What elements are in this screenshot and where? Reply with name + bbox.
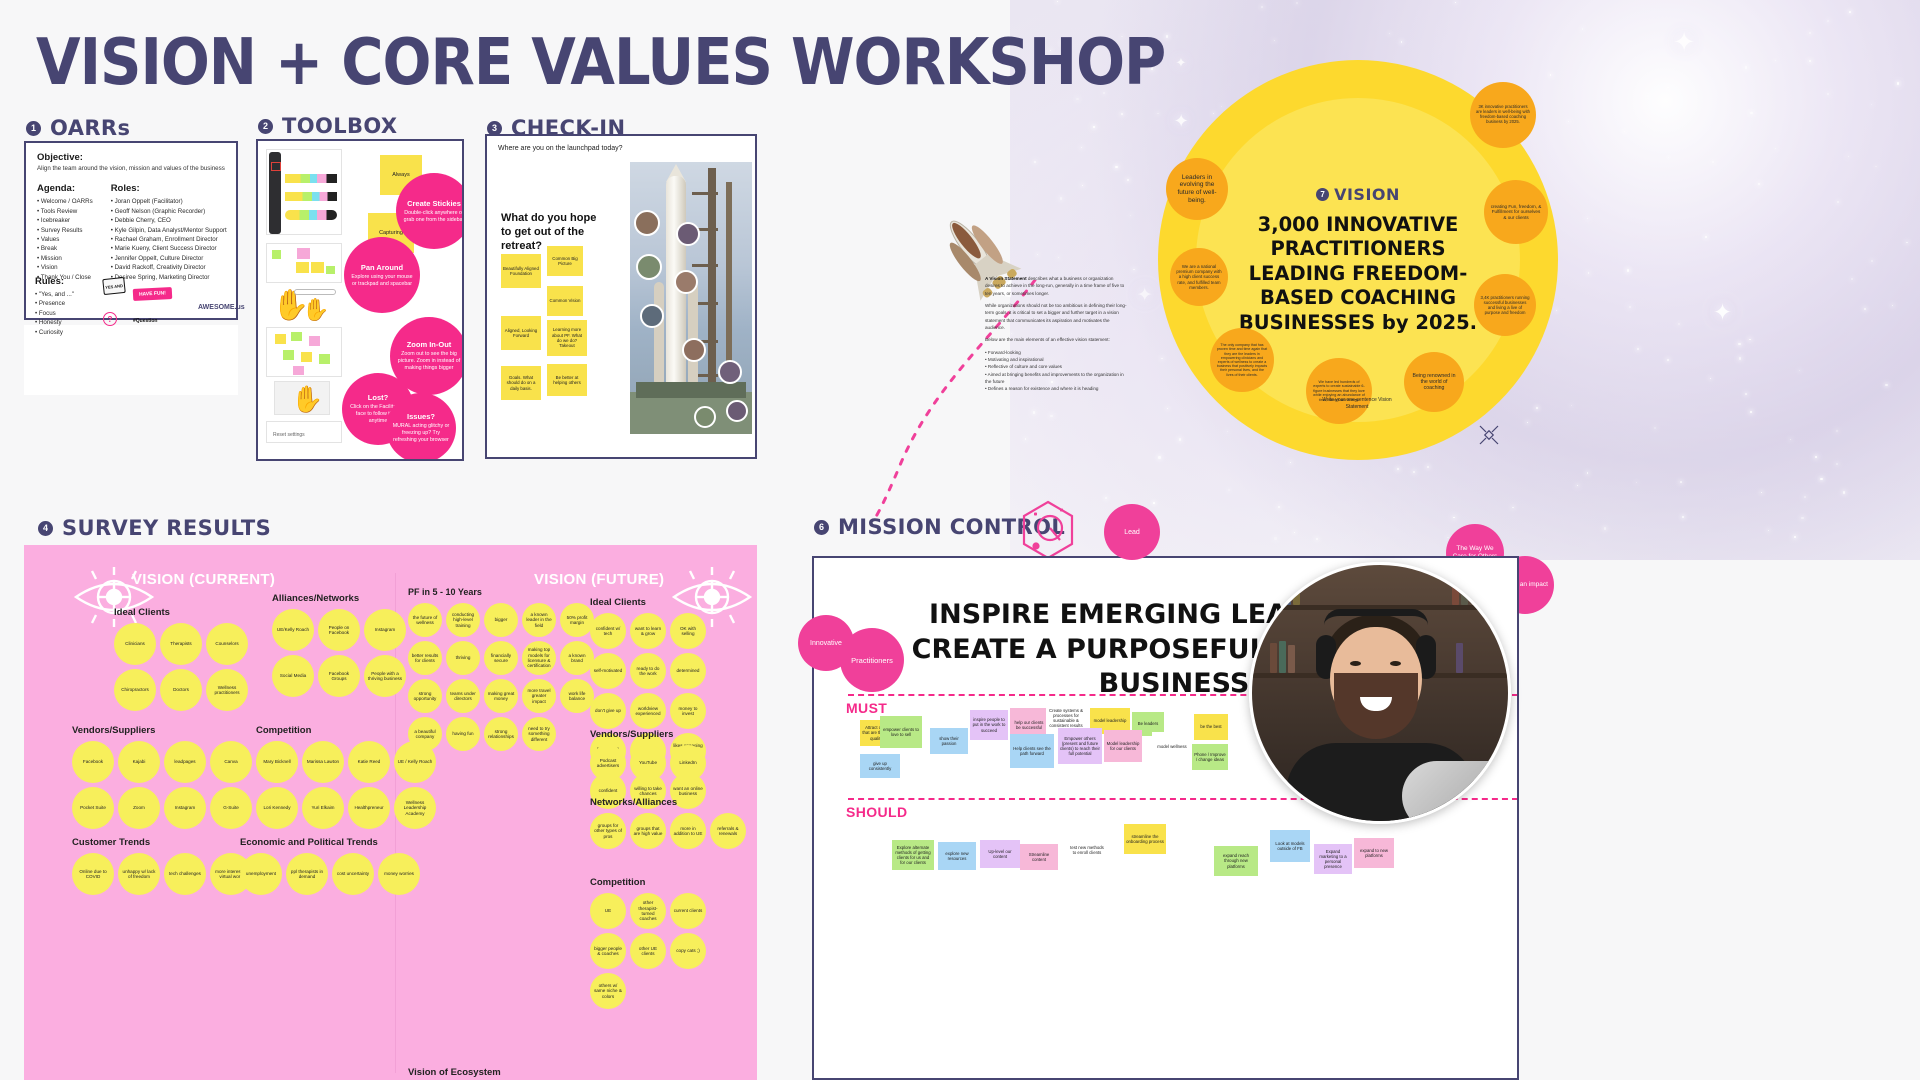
role-item: • David Rackoff, Creativity Director [111,263,227,272]
survey-middle-bubble[interactable]: a known brand [560,641,594,675]
star [1081,147,1082,148]
star [1864,308,1866,310]
star [1587,218,1588,219]
star [1799,370,1801,372]
hash-question-label: #Question [133,318,172,324]
agenda-item: • Welcome / OARRs [37,197,93,206]
section-title-oarrs: OARRs [50,116,130,140]
survey-bubble[interactable]: Marissa Lawton [302,741,344,783]
star [1221,106,1222,107]
star [1127,179,1129,181]
mission-should-note[interactable]: expand to new platforms [1354,838,1394,868]
star [1678,323,1680,325]
toolbox-bubble-pan-around[interactable]: Pan Around Explore using your mouse or t… [344,237,420,313]
star [1213,113,1214,114]
vision-copy-p2: While organizations should not be too am… [985,302,1129,331]
survey-bubble[interactable]: Instagram [364,609,406,651]
agenda-item: • Vision [37,263,93,272]
bubble-title: Issues? [407,412,435,421]
star [1294,532,1295,533]
rocket-launchpad-photo [630,162,752,434]
vision-orbit-note-2[interactable]: The only company that has proven time an… [1210,328,1274,392]
toolbox-screenshot-settings: Reset settings [266,421,342,443]
survey-group-label: Economic and Political Trends [240,837,378,848]
section-title-toolbox: TOOLBOX [282,114,398,138]
star [1758,183,1760,185]
section-header-vision: 7 VISION [1316,185,1400,204]
checkin-sticky[interactable]: Common Big Picture [547,246,583,276]
survey-bubble[interactable]: cost uncertainty [332,853,374,895]
star [1057,1,1058,2]
star [1179,438,1181,440]
bubble-text: Double-click anywhere or grab one from t… [401,210,464,224]
survey-bubble[interactable]: Lori Kennedy [256,787,298,829]
star [1809,60,1811,62]
survey-middle-bubble[interactable]: better results for clients [408,641,442,675]
star [1710,378,1711,379]
mission-should-note[interactable]: expand reach through new platforms [1214,846,1258,876]
survey-bubble[interactable]: Social Media [272,655,314,697]
survey-col-title-future: VISION (FUTURE) [534,571,664,588]
survey-bubble[interactable]: UE [590,893,626,929]
toolbox-screenshot-stickies [266,149,342,235]
mission-must-note[interactable]: inspire people to put in the work to suc… [970,710,1008,740]
star [1133,269,1135,271]
agenda-item: • Icebreaker [37,216,93,225]
checkin-panel: Where are you on the launchpad today? Wh… [485,134,757,459]
role-item: • Debbie Cherry, CEO [111,216,227,225]
star [1413,471,1415,473]
star [1512,507,1514,509]
star [1290,462,1291,463]
vision-orbit-note-6[interactable]: 3,4K practitioners running successful bu… [1474,274,1536,336]
checkin-prompt: Where are you on the launchpad today? [498,145,744,152]
survey-bubble[interactable]: Mary Bicknell [256,741,298,783]
star [1587,472,1588,473]
survey-middle-bubble[interactable]: a beautiful company [408,717,442,751]
rule-item: • Honesty [35,318,95,327]
toolbox-screenshot-zoom [266,327,342,377]
star [1627,269,1629,271]
star-sparkle: ✦ [1137,287,1153,306]
star [1750,112,1752,114]
role-item: • Joran Oppelt (Facilitator) [111,197,227,206]
star [1775,148,1776,149]
star [1604,527,1606,529]
rule-item: • "Yes, and ..." [35,290,95,299]
section-title-vision: VISION [1334,185,1400,204]
survey-bubble[interactable]: unhappy w/ lack of freedom [118,853,160,895]
rules-block: Rules: • "Yes, and ..."• Presence• Focus… [35,276,235,337]
survey-bubble[interactable]: Katie Reed [348,741,390,783]
star [1316,538,1318,540]
star [1060,197,1062,199]
bubble-title: Zoom In-Out [407,340,452,349]
bubble-text: Explore using your mouse or trackpad and… [349,274,415,288]
checkin-sticky[interactable]: Aligned, Looking Forward [501,316,541,350]
survey-bubble[interactable]: money to invest [670,693,706,729]
toolbox-screenshot-drag [266,243,342,283]
star [1804,496,1806,498]
star [1668,157,1669,158]
star [1667,359,1669,361]
mission-must-note[interactable]: Model leadership for our clients [1104,730,1142,762]
mission-should-note[interactable]: Up-level our content [980,840,1020,868]
survey-bubble[interactable]: Podcast advertisers [590,745,626,781]
vision-one-sentence-label: Write your one-sentence Vision Statement [1318,397,1396,410]
survey-middle-bubble[interactable]: financially secure [484,641,518,675]
toolbox-bubble-create-stickies[interactable]: Create Stickies Double-click anywhere or… [396,173,464,249]
role-item: • Jennifer Oppelt, Culture Director [111,254,227,263]
survey-bubble[interactable]: unemployment [240,853,282,895]
survey-bubble[interactable]: UE/Kelly Roach [272,609,314,651]
mission-should-note[interactable]: streamline the onboarding process [1124,824,1166,854]
bubble-title: Create Stickies [407,199,461,208]
survey-bubble[interactable]: current clients [670,893,706,929]
star [1750,411,1752,413]
survey-middle-bubble[interactable]: teams under directors [446,679,480,713]
survey-bubble[interactable]: groups for other types of pros [590,813,626,849]
star [1848,156,1849,157]
survey-bubble[interactable]: other therapist-turned coaches [630,893,666,929]
star [1588,272,1589,273]
star [1550,74,1552,76]
survey-middle-bubble[interactable]: having fun [446,717,480,751]
survey-col-title-current: VISION (CURRENT) [132,571,275,588]
webcam-video-tile[interactable] [1249,562,1511,824]
survey-group-label: Vendors/Suppliers [72,725,155,736]
survey-bubble[interactable]: more in addition to UE [670,813,706,849]
survey-bubble[interactable]: bigger people & coaches [590,933,626,969]
role-item: • Kyle Gilpin, Data Analyst/Mentor Suppo… [111,226,227,235]
survey-bubble[interactable]: money worries [378,853,420,895]
vision-copy-p3: Below are the main elements of an effect… [985,336,1129,343]
star [1654,427,1656,429]
star [1058,257,1059,258]
vision-bullet: • Defines a reason for existence and whe… [985,385,1129,392]
survey-bubble[interactable]: others w/ same niche & colors [590,973,626,1009]
survey-bubble[interactable]: Doctors [160,669,202,711]
agenda-label: Agenda: [37,183,93,194]
survey-bubble[interactable]: People on Facebook [318,609,360,651]
star [1851,278,1853,280]
survey-bubble[interactable]: don't give up [590,693,626,729]
rule-item: • Curiosity [35,328,95,337]
star [1037,254,1038,255]
survey-bubble[interactable]: Online due to COVID [72,853,114,895]
star [1228,489,1230,491]
mission-should-note[interactable]: Expand marketing to a personal presence [1314,844,1352,874]
mission-should-note[interactable]: test new methods to enroll clients [1066,834,1108,866]
star [1827,20,1829,22]
star [1571,405,1572,406]
checkin-sticky[interactable]: Learning more about PF. What do we do? T… [547,320,587,356]
vision-orbit-note-5[interactable]: creating Fun, freedom, & Fulfillment for… [1484,180,1548,244]
vision-bullet: • Aimed at bringing benefits and improve… [985,371,1129,386]
agenda-item: • Mission [37,254,93,263]
survey-middle-bubble[interactable]: making great money [484,679,518,713]
mission-must-note[interactable]: Help clients see the path forward [1010,734,1054,768]
sticker-yes-and: YES AND [102,277,126,295]
star [1827,93,1829,95]
section-header-survey: 4 SURVEY RESULTS [38,516,271,540]
star [1261,6,1263,8]
star [1278,506,1279,507]
star [1227,431,1228,432]
vision-bullet: • Motivating and inspirational [985,356,1129,363]
role-item: • Rachael Graham, Enrollment Director [111,235,227,244]
survey-bubble[interactable]: copy cats ;) [670,933,706,969]
star [1761,492,1762,493]
star [1158,456,1160,458]
survey-middle-bubble[interactable]: conducting high-level training [446,603,480,637]
survey-bubble[interactable]: Kajabi [118,741,160,783]
star [1568,121,1569,122]
vision-orbit-note-4[interactable]: 3K innovative practitioners are leaders … [1470,82,1536,148]
mission-must-note[interactable]: be the best [1194,714,1228,740]
vision-copy-lead: A Vision Statement [985,276,1027,281]
star-sparkle: ✦ [1713,301,1732,324]
survey-bubble[interactable]: Facebook [72,741,114,783]
toolbox-bubble-issues[interactable]: Issues? MURAL acting glitchy or freezing… [386,393,456,461]
star [1705,236,1707,238]
checkin-sticky[interactable]: Beautifully Aligned Foundation [501,254,541,288]
survey-bubble[interactable]: tech challenges [164,853,206,895]
star [1629,306,1631,308]
star [1130,215,1131,216]
star [1885,384,1887,386]
survey-bubble[interactable]: G-Suite [210,787,252,829]
survey-results-panel: VISION (CURRENT) VISION (FUTURE) PF in 5… [24,545,757,1080]
rules-list: • "Yes, and ..."• Presence• Focus• Hones… [35,290,95,337]
star-sparkle: ✦ [1174,113,1189,131]
star [1815,456,1817,458]
survey-bubble[interactable]: Healthpreneur [348,787,390,829]
checkin-sticky[interactable]: Goals. What should do on a daily basis. [501,366,541,400]
section-number-mission: 6 [814,520,829,535]
star [1680,481,1682,483]
agenda-list: • Welcome / OARRs• Tools Review• Icebrea… [37,197,93,282]
star [1739,357,1742,360]
star [1871,104,1873,106]
survey-group-label: Competition [256,725,311,736]
survey-middle-bubble[interactable]: 50% profit margin [560,603,594,637]
star [1167,408,1168,409]
star [1768,530,1770,532]
star [1647,95,1649,97]
star [1745,66,1747,68]
star [1712,161,1714,163]
survey-bubble[interactable]: Wellness practitioners [206,669,248,711]
star [1453,517,1454,518]
star [1455,2,1456,3]
survey-bubble[interactable]: Instagram [164,787,206,829]
survey-middle-bubble[interactable]: strong relationships [484,717,518,751]
survey-middle-bubble[interactable]: need to try something different [522,717,556,751]
hand-pan-icon: ✋ ✋ [272,289,334,321]
vision-bullet: • Reflective of culture and core values [985,363,1129,370]
survey-bubble[interactable]: referrals & renewals [710,813,746,849]
mission-should-note[interactable]: Look at models outside of FB [1270,830,1310,862]
star [1050,415,1052,417]
star [1843,491,1845,493]
star [1274,537,1277,540]
mission-badge-icon [1020,500,1076,560]
survey-bubble[interactable]: Wellness Leadership Academy [394,787,436,829]
bubble-text: Zoom out to see the big picture. Zoom in… [395,351,463,371]
survey-bubble[interactable]: ready to do the work [630,653,666,689]
star [1577,485,1578,486]
survey-bubble[interactable]: Facebook Groups [318,655,360,697]
star [1749,339,1751,341]
checkin-sticky[interactable]: Be better at helping others [547,364,587,396]
sticker-have-fun: HAVE FUN! [133,287,172,301]
page-title: VISION + CORE VALUES WORKSHOP [36,26,1165,100]
star [1401,41,1403,43]
survey-bubble[interactable]: Yuri Elkaim [302,787,344,829]
section-header-toolbox: 2 TOOLBOX [258,114,398,138]
star [1536,407,1538,409]
star-sparkle: ✦ [1176,57,1187,70]
bubble-title: Lost? [368,393,388,402]
star [1682,516,1684,518]
survey-middle-bubble[interactable]: strong opportunity [408,679,442,713]
question-mark-icon: ? [103,312,117,326]
star-sparkle: ✦ [1673,29,1695,56]
mission-should-note[interactable]: Streamline content [1020,844,1058,870]
mission-must-note[interactable]: Empower others (present and future clien… [1058,728,1102,764]
survey-bubble[interactable]: want to learn & grow [630,613,666,649]
survey-middle-bubble[interactable]: thriving [446,641,480,675]
mission-must-note[interactable]: give up consistently [860,754,900,778]
survey-middle-bubble[interactable]: the future of wellness [408,603,442,637]
agenda-item: • Values [37,235,93,244]
survey-bubble[interactable]: Zoom [118,787,160,829]
mission-bubble-lead[interactable]: Lead [1104,504,1160,560]
mission-bubble-practitioners[interactable]: Practitioners [840,628,904,692]
survey-bubble[interactable]: Counselors [206,623,248,665]
vision-orbit-note-0[interactable]: Leaders in evolving the future of well-b… [1166,158,1228,220]
survey-bubble[interactable]: YouTube [630,745,666,781]
star [1397,468,1399,470]
satellite-icon [1478,424,1500,451]
section-number-oarrs: 1 [26,121,41,136]
checkin-sticky[interactable]: Common Vision [547,286,583,316]
survey-middle-bubble[interactable]: making top models for licensure & certif… [522,641,556,675]
star [1093,126,1094,127]
brand-logo: AWESOME.us [198,304,245,311]
agenda-item: • Survey Results [37,226,93,235]
star [1897,82,1899,84]
toolbox-screenshot-click: ✋ [274,381,330,415]
role-item: • Marie Kueny, Client Success Director [111,244,227,253]
vision-orbit-note-3[interactable]: We have led hundreds of experts to creat… [1306,358,1372,424]
section-title-survey: SURVEY RESULTS [62,516,271,540]
survey-bubble[interactable]: worldview experienced [630,693,666,729]
survey-bubble[interactable]: ppl therapists in demand [286,853,328,895]
survey-middle-bubble[interactable]: more travel greater impact [522,679,556,713]
vision-orbit-note-1[interactable]: We are a national premium company with a… [1170,248,1228,306]
star [1296,2,1297,3]
survey-bubble[interactable]: confident w/ tech [590,613,626,649]
objective-label: Objective: [37,152,225,163]
star [1849,11,1851,13]
survey-bubble[interactable]: OK with selling [670,613,706,649]
section-number-vision: 7 [1316,188,1329,201]
star [1875,166,1877,168]
star [1794,536,1796,538]
survey-bubble[interactable]: LinkedIn [670,745,706,781]
mission-should-note[interactable]: explore new resources [938,842,976,870]
star [1738,343,1740,345]
vision-statement: 3,000 INNOVATIVE PRACTITIONERS LEADING F… [1238,213,1478,336]
star [1034,161,1036,163]
section-number-survey: 4 [38,521,53,536]
survey-bubble[interactable]: Clinicians [114,623,156,665]
agenda-item: • Tools Review [37,207,93,216]
survey-middle-bubble[interactable]: work life balance [560,679,594,713]
vision-copy-bullets: • Forward-looking• Motivating and inspir… [985,349,1129,393]
survey-bubble[interactable]: People with a thriving business [364,655,406,697]
star [1820,478,1822,480]
survey-middle-title: PF in 5 - 10 Years [408,587,482,597]
star [1274,40,1275,41]
survey-bubble[interactable]: Pocket Suite [72,787,114,829]
mission-must-note[interactable]: Phone / Improve / change ideas [1192,744,1228,770]
star [1166,35,1168,37]
mission-lane-must: MUST [846,700,887,716]
survey-bubble[interactable]: determined [670,653,706,689]
star [1389,33,1390,34]
mission-must-note[interactable]: empower clients to love to sell [880,716,922,748]
survey-group-label: Networks/Alliances [590,797,677,808]
survey-middle-bubble[interactable]: a known leader in the field [522,603,556,637]
star [1667,87,1669,89]
vision-orbit-note-7[interactable]: Being renowned in the world of coaching [1404,352,1464,412]
survey-bubble[interactable]: Chiropractors [114,669,156,711]
survey-bubble[interactable]: Canva [210,741,252,783]
survey-bubble[interactable]: Therapists [160,623,202,665]
star [1745,393,1747,395]
star [1556,310,1557,311]
mission-must-note[interactable]: model wellness [1152,732,1192,762]
mission-should-note[interactable]: Explore alternate methods of getting cli… [892,840,934,870]
star [1809,32,1811,34]
roles-list: • Joran Oppelt (Facilitator)• Geoff Nels… [111,197,227,282]
section-header-oarrs: 1 OARRs [26,116,130,140]
survey-bubble[interactable]: self-motivated [590,653,626,689]
rule-item: • Presence [35,299,95,308]
star [1121,113,1123,115]
star [1775,60,1776,61]
rule-item: • Focus [35,309,95,318]
mission-must-note[interactable]: show their passion [930,728,968,754]
star [1624,131,1625,132]
survey-bubble[interactable]: other UE clients [630,933,666,969]
survey-group-label: Vendors/Suppliers [590,729,673,740]
section-number-toolbox: 2 [258,119,273,134]
vision-bullet: • Forward-looking [985,349,1129,356]
toolbox-panel: ✋ ✋ ✋ Reset settings + Always Be Capturi… [256,139,464,461]
survey-middle-bubble[interactable]: bigger [484,603,518,637]
survey-bubble[interactable]: leadpages [164,741,206,783]
survey-bubble[interactable]: groups that are high value [630,813,666,849]
bubble-title: Pan Around [361,263,403,272]
star [1906,242,1908,244]
star [1527,422,1528,423]
star [1153,502,1155,504]
mission-lane-should: SHOULD [846,804,908,820]
